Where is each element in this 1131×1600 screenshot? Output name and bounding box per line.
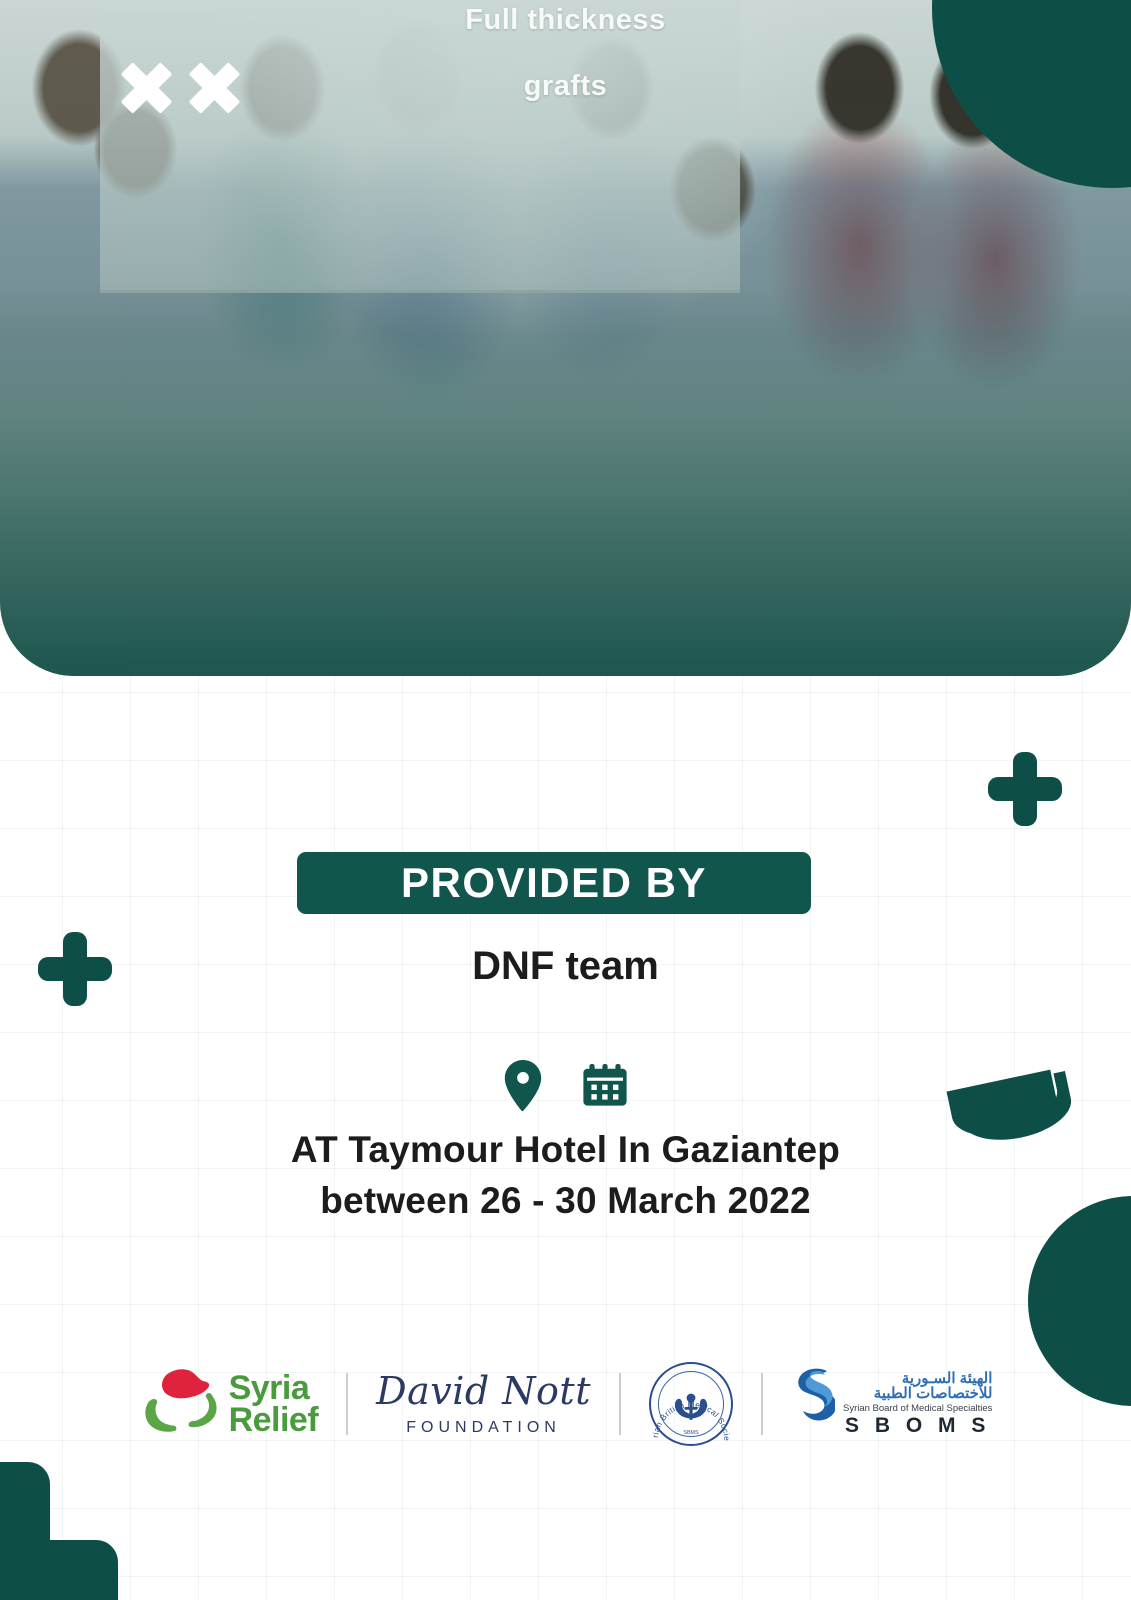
corner-arm-horizontal	[0, 1540, 118, 1600]
venue-date-text: between 26 - 30 March 2022	[0, 1175, 1131, 1226]
sboms-wordmark: الهيئة السـورية للاختصاصات الطبية Syrian…	[843, 1371, 992, 1438]
logo-david-nott-foundation: David Nott FOUNDATION	[376, 1372, 591, 1437]
provider-name: DNF team	[0, 944, 1131, 989]
sboms-abbreviation: S B O M S	[843, 1415, 992, 1437]
sboms-arabic-line-1: الهيئة السـورية	[843, 1371, 992, 1387]
logo-syria-relief: Syria Relief	[139, 1365, 319, 1444]
syria-relief-wordmark: Syria Relief	[229, 1372, 319, 1437]
sboms-english-name: Syrian Board of Medical Specialties	[843, 1404, 992, 1414]
sbms-seal-icon: Syrian British Medical Society SBMS	[649, 1362, 733, 1446]
venue-details: AT Taymour Hotel In Gaziantep between 26…	[0, 1124, 1131, 1226]
plus-icon	[988, 752, 1062, 826]
logo-syrian-british-medical-society: Syrian British Medical Society SBMS	[649, 1362, 733, 1446]
logo-divider	[346, 1373, 348, 1435]
calendar-icon	[581, 1062, 629, 1110]
venue-icon-row	[0, 1060, 1131, 1112]
location-pin-icon	[503, 1060, 543, 1112]
x-mark-icon	[118, 60, 174, 116]
david-nott-foundation-label: FOUNDATION	[376, 1419, 591, 1437]
provided-by-label: PROVIDED BY	[401, 859, 707, 907]
svg-text:SBMS: SBMS	[683, 1430, 699, 1436]
poster-canvas: Full thickness grafts HEST Hostile Envir…	[0, 0, 1131, 1600]
syria-relief-line-2: Relief	[229, 1404, 319, 1436]
sboms-mark-icon	[791, 1365, 835, 1444]
x-mark-icon	[186, 60, 242, 116]
logo-syrian-board-of-medical-specialties: الهيئة السـورية للاختصاصات الطبية Syrian…	[791, 1365, 992, 1444]
l-corner-decoration	[0, 1462, 118, 1600]
provided-by-banner: PROVIDED BY	[297, 852, 811, 914]
sboms-arabic-line-2: للاختصاصات الطبية	[843, 1386, 992, 1402]
logo-divider	[619, 1373, 621, 1435]
david-nott-signature: David Nott	[376, 1372, 591, 1410]
venue-location-text: AT Taymour Hotel In Gaziantep	[0, 1124, 1131, 1175]
logo-divider	[761, 1373, 763, 1435]
syria-relief-line-1: Syria	[229, 1372, 319, 1404]
partner-logo-strip: Syria Relief David Nott FOUNDATION	[0, 1348, 1131, 1460]
syria-relief-mark-icon	[139, 1365, 223, 1444]
sbms-ring-text: Syrian British Medical Society SBMS	[649, 1362, 733, 1446]
